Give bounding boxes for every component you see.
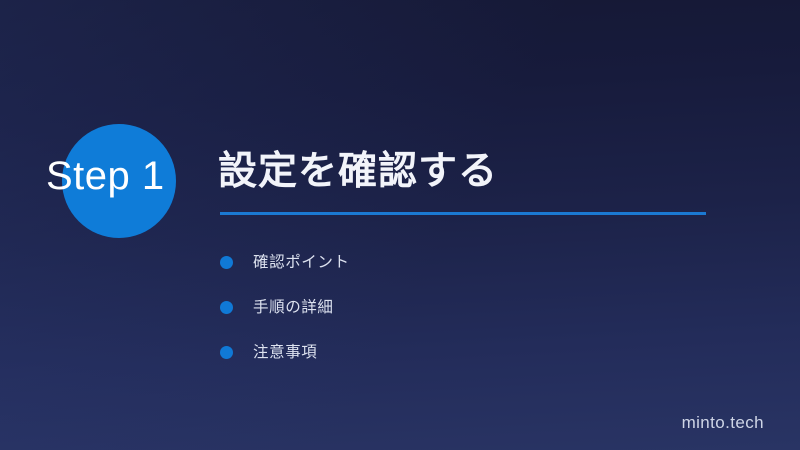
bullet-label: 注意事項 [253, 342, 317, 364]
list-item: 手順の詳細 [220, 285, 700, 330]
bullet-list: 確認ポイント 手順の詳細 注意事項 [220, 240, 700, 375]
slide-canvas: Step 1 設定を確認する 確認ポイント 手順の詳細 注意事項 minto.t… [0, 0, 800, 450]
list-item: 確認ポイント [220, 240, 700, 285]
bullet-label: 確認ポイント [253, 252, 350, 274]
slide-content: Step 1 設定を確認する 確認ポイント 手順の詳細 注意事項 minto.t… [0, 0, 800, 450]
step-badge-label: Step 1 [46, 152, 226, 200]
bullet-label: 手順の詳細 [253, 297, 334, 319]
bullet-dot-icon [220, 301, 233, 314]
footer-watermark: minto.tech [682, 412, 764, 434]
bullet-dot-icon [220, 256, 233, 269]
list-item: 注意事項 [220, 330, 700, 375]
slide-title: 設定を確認する [218, 146, 498, 198]
bullet-dot-icon [220, 346, 233, 359]
title-divider [220, 212, 706, 215]
